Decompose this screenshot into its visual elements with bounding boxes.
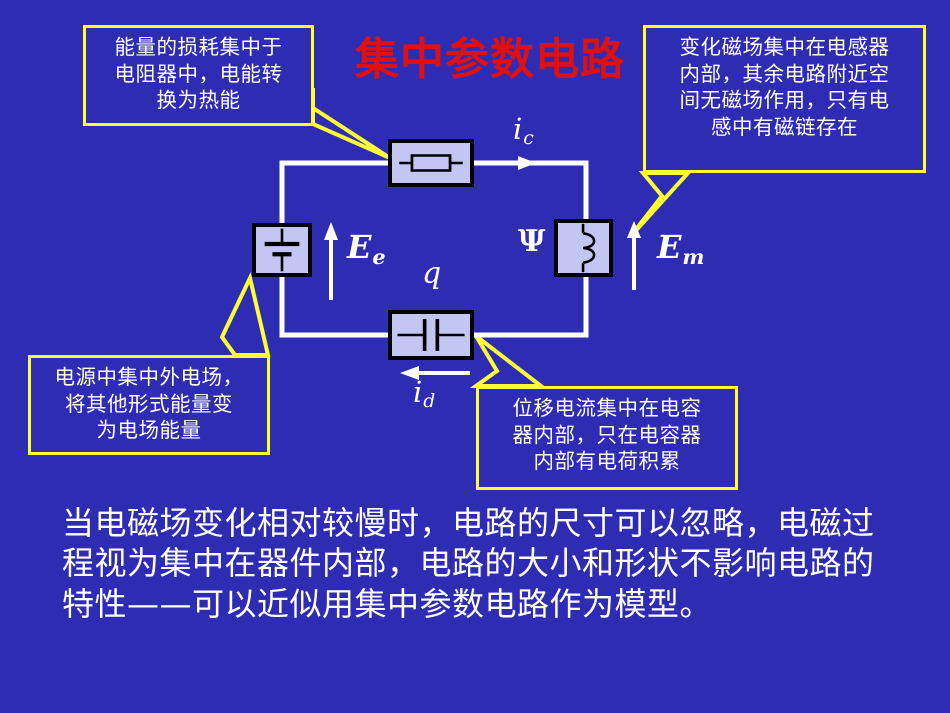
slide-canvas: 集中参数电路 能量的损耗集中于 电阻器中，电能转 换为热能 变化磁场集中在电感器…	[0, 0, 950, 713]
resistor-symbol	[392, 143, 470, 183]
callout-tail-resistor	[313, 88, 390, 158]
component-resistor	[388, 139, 474, 187]
component-inductor	[554, 219, 613, 277]
label-current-displacement: id	[413, 378, 435, 412]
callout-inductor: 变化磁场集中在电感器 内部，其余电路附近空 间无磁场作用，只有电 感中有磁链存在	[643, 25, 926, 173]
label-Ee-sub: e	[371, 244, 385, 269]
label-field-magnetic: Em	[657, 231, 704, 268]
inductor-coil-symbol	[558, 223, 609, 273]
current-arrow-ic	[518, 156, 536, 170]
label-ic-sub: c	[522, 128, 534, 149]
battery-symbol	[256, 227, 308, 273]
callout-tail-source	[222, 278, 268, 355]
label-charge: q	[422, 259, 441, 289]
label-field-electric: Ee	[347, 231, 386, 268]
label-id-sub: d	[422, 391, 435, 412]
label-ic-base: i	[513, 112, 522, 146]
page-title: 集中参数电路	[355, 38, 621, 82]
bottom-paragraph: 当电磁场变化相对较慢时，电路的尺寸可以忽略，电磁过程视为集中在器件内部，电路的大…	[62, 503, 892, 624]
capacitor-symbol	[392, 314, 470, 356]
component-capacitor	[388, 310, 474, 360]
label-Em-base: E	[657, 228, 681, 266]
callout-capacitor: 位移电流集中在电容 器内部，只在电容器 内部有电荷积累	[476, 386, 738, 490]
label-current-conduction: ic	[513, 115, 534, 149]
field-arrow-Ee	[324, 222, 338, 300]
field-arrow-Em	[627, 221, 641, 290]
label-q-base: q	[422, 256, 441, 291]
component-voltage-source	[252, 223, 312, 277]
label-psi-base: Ψ	[518, 224, 545, 259]
callout-resistor: 能量的损耗集中于 电阻器中，电能转 换为热能	[83, 25, 314, 126]
callout-source: 电源中集中外电场， 将其他形式能量变 为电场能量	[28, 355, 270, 455]
label-id-base: i	[413, 375, 422, 409]
label-Em-sub: m	[681, 244, 704, 269]
label-flux-linkage: Ψ	[518, 227, 545, 257]
label-Ee-base: E	[347, 228, 371, 266]
callout-tail-capacitor	[476, 336, 541, 386]
